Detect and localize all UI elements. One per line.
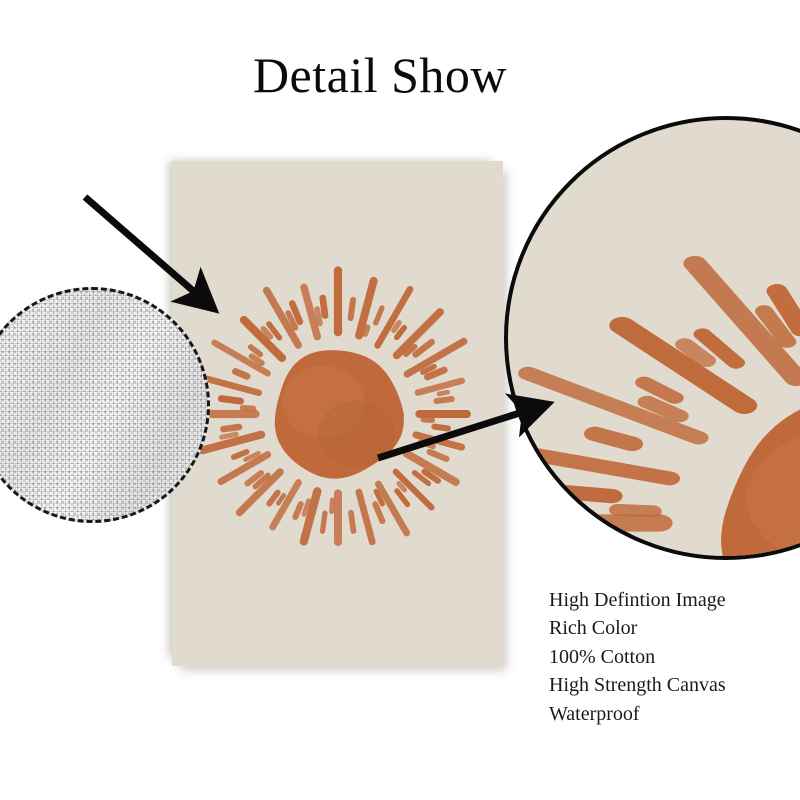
feature-item: High Strength Canvas — [549, 671, 799, 699]
feature-item: Rich Color — [549, 614, 799, 642]
magnified-artwork-circle — [504, 116, 800, 560]
feature-item: 100% Cotton — [549, 643, 799, 671]
poster-card — [172, 161, 503, 666]
sun-artwork-svg — [172, 161, 503, 666]
feature-list: High Defintion Image Rich Color 100% Cot… — [549, 586, 799, 728]
feature-item: Waterproof — [549, 700, 799, 728]
detail-show-graphic: Detail Show High Defintion Image Rich Co… — [0, 0, 800, 800]
canvas-weave-texture-circle — [0, 287, 210, 523]
page-title: Detail Show — [0, 50, 760, 100]
poster-artwork — [172, 161, 503, 666]
magnified-artwork-inner — [504, 116, 800, 560]
magnified-sun-artwork-svg — [504, 116, 800, 560]
feature-item: High Defintion Image — [549, 586, 799, 614]
weave-pattern — [0, 290, 207, 520]
